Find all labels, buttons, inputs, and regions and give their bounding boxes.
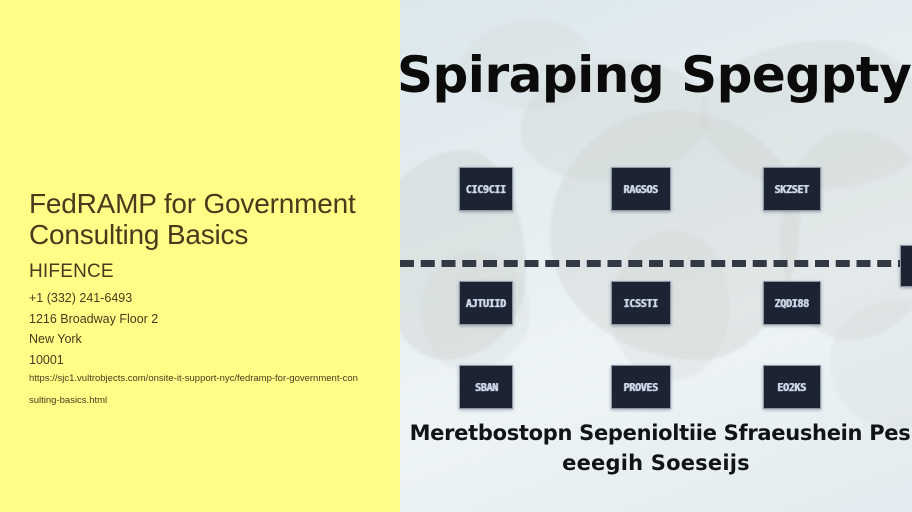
illustration-title: Spiraping Spegpty bbox=[400, 46, 912, 104]
illustration-caption: Meretbostopn Sepenioltiie Sfraeushein Pe… bbox=[400, 418, 912, 478]
screenshot-root: FedRAMP for Government Consulting Basics… bbox=[0, 0, 912, 512]
diagram-node-label: EO2KS bbox=[778, 381, 807, 394]
page-title-line-1: FedRAMP for Government bbox=[29, 188, 400, 219]
contact-zip: 10001 bbox=[29, 350, 369, 371]
diagram-node-label: SKZSET bbox=[775, 183, 809, 196]
diagram-node: SBAN bbox=[459, 365, 513, 409]
brand-name: HIFENCE bbox=[29, 261, 114, 283]
dashed-divider bbox=[400, 260, 912, 267]
article-info-panel: FedRAMP for Government Consulting Basics… bbox=[0, 0, 400, 512]
diagram-node-label: CIC9CII bbox=[466, 183, 506, 196]
diagram-node: EO2KS bbox=[763, 365, 821, 409]
diagram-node-label: PROVES bbox=[624, 381, 658, 394]
source-url[interactable]: https://sjc1.vultrobjects.com/onsite-it-… bbox=[29, 368, 359, 412]
illustration-panel: Spiraping Spegpty CIC9CII RAGSOS SKZSET … bbox=[400, 0, 912, 512]
diagram-node-label: AJTUIID bbox=[466, 297, 506, 310]
page-title: FedRAMP for Government Consulting Basics bbox=[29, 188, 400, 250]
diagram-node: RAGSOS bbox=[611, 167, 671, 211]
diagram-node-label: SBAN bbox=[475, 381, 498, 394]
world-map-shape bbox=[830, 300, 912, 430]
diagram-node: AJTUIID bbox=[459, 281, 513, 325]
contact-street: 1216 Broadway Floor 2 bbox=[29, 309, 369, 330]
contact-city: New York bbox=[29, 329, 369, 350]
diagram-node: ZQDI88 bbox=[763, 281, 821, 325]
diagram-node: SKZSET bbox=[763, 167, 821, 211]
diagram-node: CIC9CII bbox=[459, 167, 513, 211]
diagram-node-label: ZQDI88 bbox=[775, 297, 809, 310]
diagram-node-label: ICSSTI bbox=[624, 297, 658, 310]
page-title-line-2: Consulting Basics bbox=[29, 219, 400, 250]
diagram-node-label: RAGSOS bbox=[624, 183, 658, 196]
diagram-node-clipped bbox=[900, 245, 912, 287]
diagram-node: ICSSTI bbox=[611, 281, 671, 325]
illustration-caption-line-2: eeegih Soeseijs bbox=[400, 448, 912, 478]
contact-block: +1 (332) 241-6493 1216 Broadway Floor 2 … bbox=[29, 288, 369, 370]
diagram-node: PROVES bbox=[611, 365, 671, 409]
illustration-caption-line-1: Meretbostopn Sepenioltiie Sfraeushein Pe… bbox=[404, 418, 912, 448]
contact-phone: +1 (332) 241-6493 bbox=[29, 288, 369, 309]
